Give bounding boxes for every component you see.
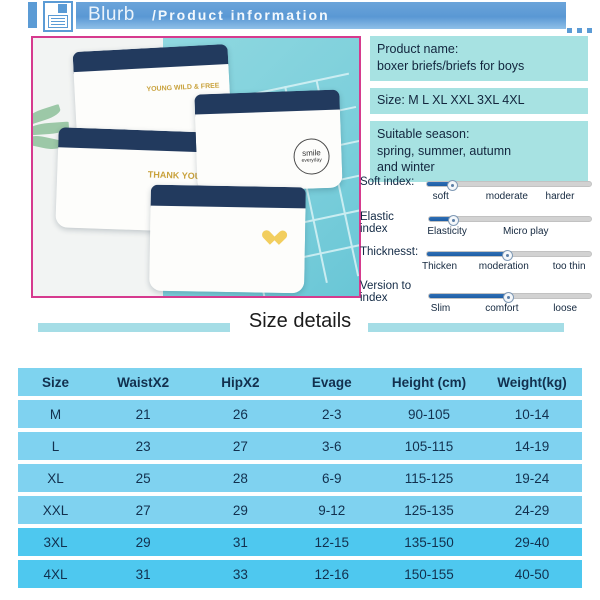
tick-label: Elasticity [427,226,466,237]
cell-waist: 29 [93,535,193,550]
floppy-label [48,15,68,28]
slider-fill [429,294,508,298]
cell-height: 90-105 [376,407,482,422]
product-name-label: Product name: [377,41,581,58]
attribute-sliders: Soft index: soft moderate harder Elastic… [360,176,596,317]
season-value-line2: and winter [377,159,581,176]
product-name-box: Product name: boxer briefs/briefs for bo… [370,36,588,81]
cell-height: 135-150 [376,535,482,550]
cell-height: 105-115 [376,439,482,454]
floppy-disk-save-icon [43,1,73,32]
floppy-shutter [58,4,67,13]
heart-icon [262,231,279,246]
cell-size: XXL [18,503,93,518]
cell-size: 3XL [18,535,93,550]
slider-knob[interactable] [503,292,514,303]
size-details-header: Size details [0,306,600,346]
slider-knob[interactable] [448,215,459,226]
list-item: smile everyday [194,89,342,192]
slider-label: Elastic index [360,211,422,235]
everyday-text: everyday [301,158,321,164]
tick-label: moderation [479,261,529,272]
slider-knob[interactable] [447,180,458,191]
product-info-panel: Product name: boxer briefs/briefs for bo… [370,36,588,189]
cell-evage: 12-16 [288,567,377,582]
cell-evage: 12-15 [288,535,377,550]
slider-track[interactable] [426,251,592,257]
cell-waist: 27 [93,503,193,518]
slider-track[interactable] [428,293,592,299]
tick-label: soft [433,191,449,202]
slider-elastic-index[interactable]: Elastic index Elasticity Micro play [360,211,596,241]
column-header: Size [18,375,93,390]
slider-label: Soft index: [360,176,422,188]
cell-size: M [18,407,93,422]
season-label: Suitable season: [377,126,581,143]
cell-waist: 21 [93,407,193,422]
brief-artwork: THANK YOU [148,170,202,182]
tick-label: too thin [553,261,586,272]
season-value-line1: spring, summer, autumn [377,143,581,160]
season-box: Suitable season: spring, summer, autumn … [370,121,588,183]
table-row: XL 25 28 6-9 115-125 19-24 [18,464,582,492]
cell-evage: 6-9 [288,471,377,486]
cell-weight: 24-29 [482,503,582,518]
table-row: XXL 27 29 9-12 125-135 24-29 [18,496,582,524]
cell-weight: 29-40 [482,535,582,550]
tick-label: Micro play [503,226,549,237]
cell-waist: 25 [93,471,193,486]
brief-fabric [149,206,305,294]
tick-label: moderate [486,191,528,202]
cell-height: 125-135 [376,503,482,518]
column-header: Weight(kg) [482,375,582,390]
table-row: M 21 26 2-3 90-105 10-14 [18,400,582,428]
cell-evage: 3-6 [288,439,377,454]
slider-fill [427,252,507,256]
tick-label: Thicken [422,261,457,272]
product-name-value: boxer briefs/briefs for boys [377,58,581,75]
cell-hip: 26 [193,407,287,422]
table-row: 3XL 29 31 12-15 135-150 29-40 [18,528,582,556]
table-row: 4XL 31 33 12-16 150-155 40-50 [18,560,582,588]
cell-hip: 31 [193,535,287,550]
cell-hip: 33 [193,567,287,582]
tick-label: harder [546,191,575,202]
table-row: L 23 27 3-6 105-115 14-19 [18,432,582,460]
cell-waist: 23 [93,439,193,454]
cell-hip: 29 [193,503,287,518]
column-header: Height (cm) [376,375,482,390]
cell-height: 115-125 [376,471,482,486]
cell-weight: 19-24 [482,471,582,486]
slider-knob[interactable] [502,250,513,261]
slider-soft-index[interactable]: Soft index: soft moderate harder [360,176,596,206]
slider-track[interactable] [426,181,592,187]
slider-label-line2: index [360,292,388,304]
cell-hip: 28 [193,471,287,486]
size-table: Size WaistX2 HipX2 Evage Height (cm) Wei… [18,368,582,592]
size-line: Size: M L XL XXL 3XL 4XL [377,92,581,109]
cell-size: L [18,439,93,454]
cell-weight: 10-14 [482,407,582,422]
product-photo: YOUNG WILD & FREE THANK YOU smile everyd… [31,36,361,298]
cell-size: XL [18,471,93,486]
slider-thickness[interactable]: Thicknesst: Thicken moderation too thin [360,246,596,276]
cell-weight: 14-19 [482,439,582,454]
cell-evage: 9-12 [288,503,377,518]
cell-evage: 2-3 [288,407,377,422]
column-header: WaistX2 [93,375,193,390]
page-title: Blurb [88,4,135,26]
column-header: Evage [288,375,377,390]
cell-waist: 31 [93,567,193,582]
list-item [149,185,306,294]
cell-weight: 40-50 [482,567,582,582]
slider-track[interactable] [428,216,592,222]
cell-height: 150-155 [376,567,482,582]
slider-label-line1: Version to [360,280,411,292]
size-details-title: Size details [0,310,600,333]
table-header-row: Size WaistX2 HipX2 Evage Height (cm) Wei… [18,368,582,396]
slider-label: Version to index [360,280,422,304]
cell-hip: 27 [193,439,287,454]
menu-dots-icon[interactable] [567,28,592,33]
page-subtitle: /Product information [152,7,330,23]
size-box: Size: M L XL XXL 3XL 4XL [370,88,588,114]
column-header: HipX2 [193,375,287,390]
page-header: Blurb /Product information [0,0,600,34]
slider-label: Thicknesst: [360,246,422,258]
header-tab-marker [28,2,37,28]
cell-size: 4XL [18,567,93,582]
